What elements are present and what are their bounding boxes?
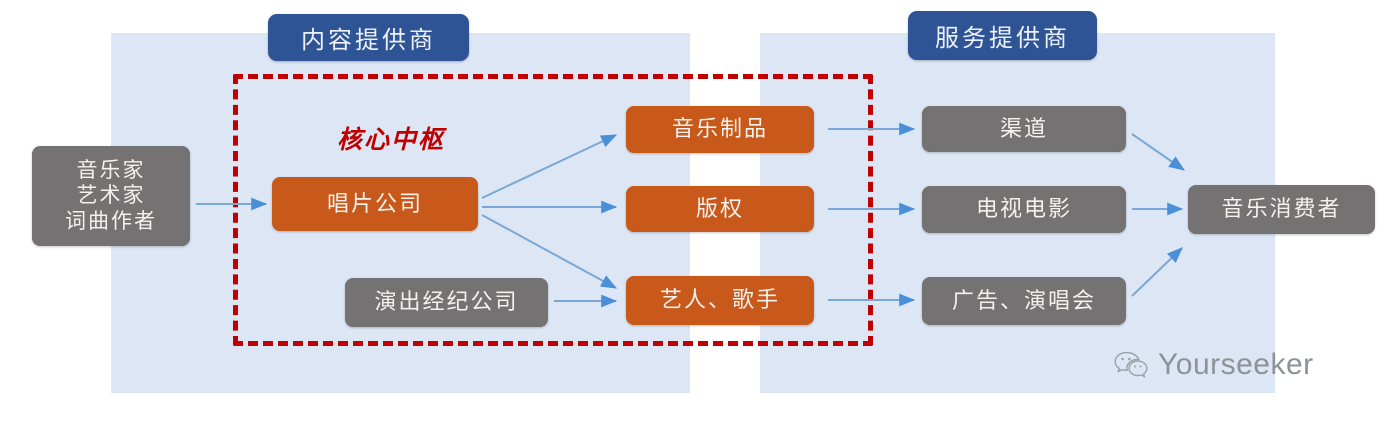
node-ads-concerts-label: 广告、演唱会 xyxy=(952,288,1096,315)
header-service-provider: 服务提供商 xyxy=(908,11,1097,60)
node-creators-line-2: 艺术家 xyxy=(77,183,146,209)
node-music-consumers-label: 音乐消费者 xyxy=(1221,196,1341,223)
node-music-products-label: 音乐制品 xyxy=(672,116,768,143)
node-creators-line-1: 音乐家 xyxy=(77,158,146,184)
node-tv-film[interactable]: 电视电影 xyxy=(922,186,1126,233)
node-copyright[interactable]: 版权 xyxy=(626,186,814,232)
header-content-provider-label: 内容提供商 xyxy=(301,20,436,55)
diagram-canvas: 内容提供商 服务提供商 核心中枢 音乐家 艺术家 词曲作者 唱片公司 演出经纪公… xyxy=(0,0,1397,427)
node-channel[interactable]: 渠道 xyxy=(922,106,1126,152)
wechat-icon xyxy=(1114,351,1148,379)
node-creators-line-3: 词曲作者 xyxy=(65,209,157,235)
watermark-text: Yourseeker xyxy=(1158,348,1314,382)
node-record-company-label: 唱片公司 xyxy=(327,191,423,218)
node-copyright-label: 版权 xyxy=(696,196,744,223)
node-performance-agency-label: 演出经纪公司 xyxy=(374,289,518,316)
node-ads-concerts[interactable]: 广告、演唱会 xyxy=(922,277,1126,325)
node-artists-singers[interactable]: 艺人、歌手 xyxy=(626,276,814,325)
header-content-provider: 内容提供商 xyxy=(268,14,469,61)
node-record-company[interactable]: 唱片公司 xyxy=(272,177,478,231)
node-music-consumers[interactable]: 音乐消费者 xyxy=(1188,185,1375,234)
watermark: Yourseeker xyxy=(1114,348,1314,382)
header-service-provider-label: 服务提供商 xyxy=(935,18,1070,53)
node-tv-film-label: 电视电影 xyxy=(976,196,1072,223)
node-creators[interactable]: 音乐家 艺术家 词曲作者 xyxy=(32,146,190,246)
node-channel-label: 渠道 xyxy=(1000,116,1048,143)
core-hub-annotation: 核心中枢 xyxy=(337,120,445,156)
node-performance-agency[interactable]: 演出经纪公司 xyxy=(345,278,548,327)
node-music-products[interactable]: 音乐制品 xyxy=(626,106,814,153)
node-artists-singers-label: 艺人、歌手 xyxy=(660,287,780,314)
